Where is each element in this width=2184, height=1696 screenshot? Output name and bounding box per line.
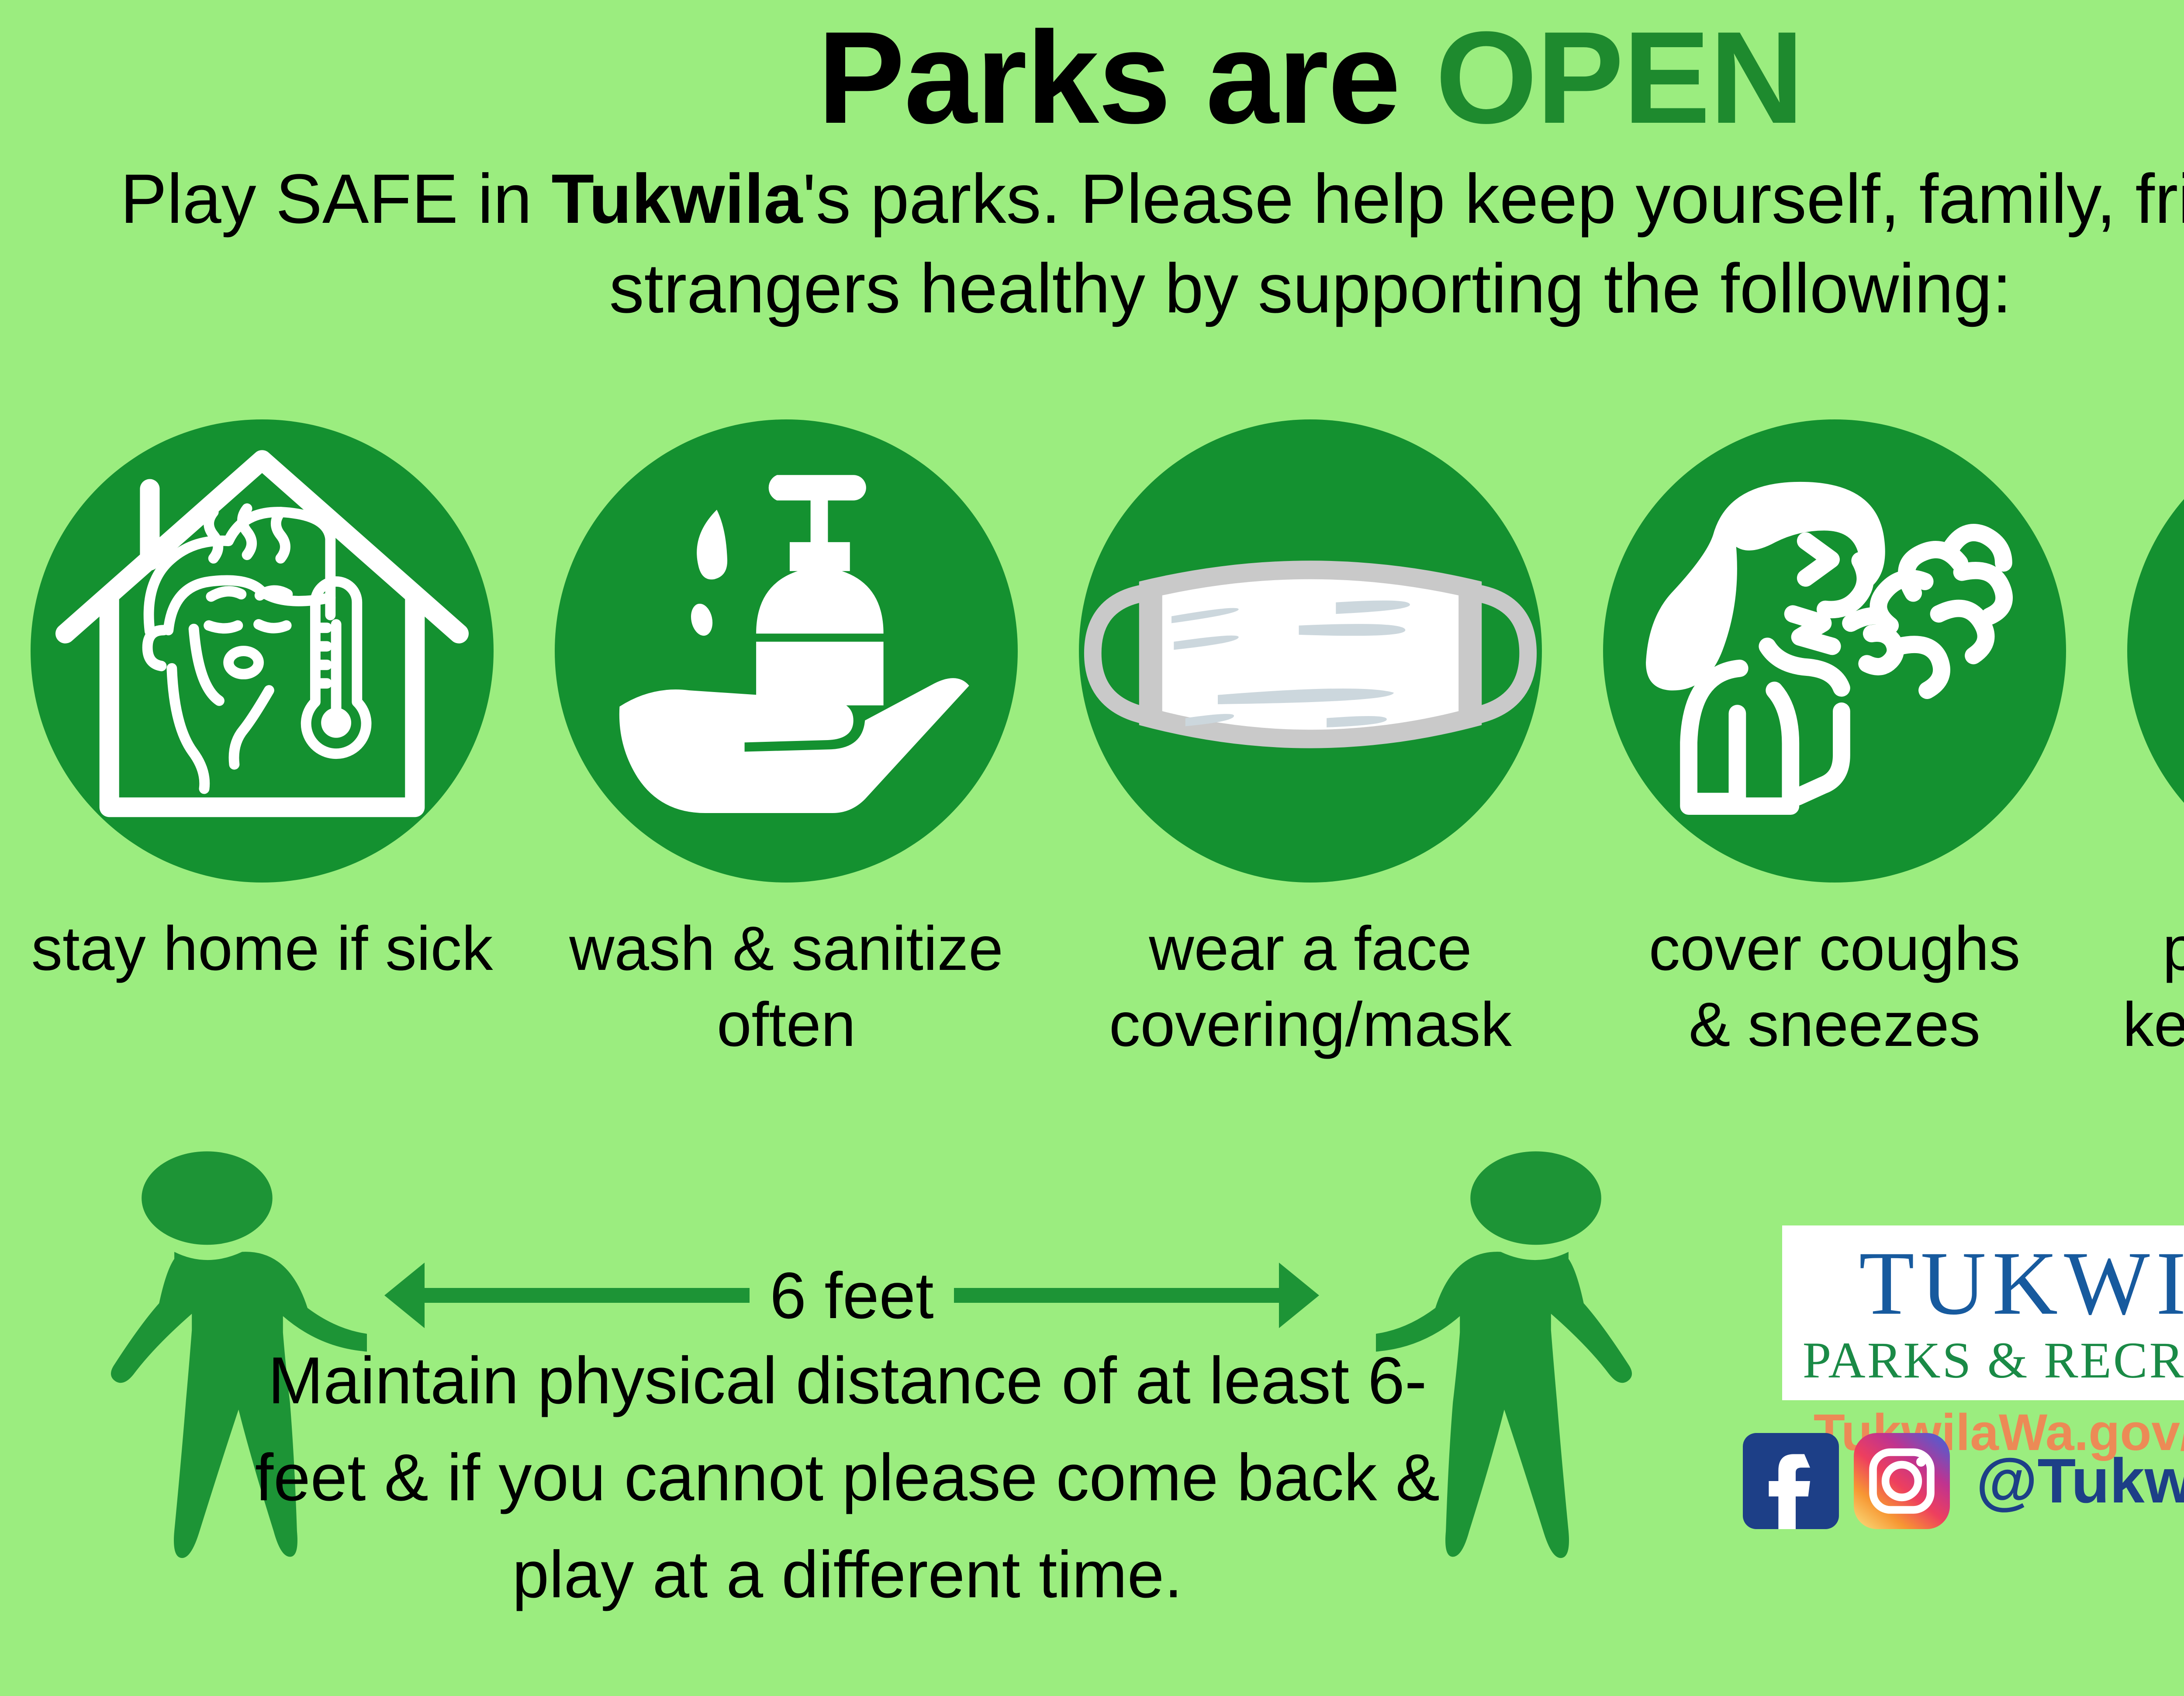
caption-face-mask: wear a facecovering/mask [1048, 911, 1572, 1063]
social-distancing-section: 6 feet Maintain physical distance of at … [0, 1136, 2184, 1696]
guideline-captions: stay home if sick wash & sanitizeoften w… [0, 911, 2184, 1063]
caption-wash-sanitize: wash & sanitizeoften [524, 911, 1048, 1063]
six-feet-arrow: 6 feet [384, 1254, 1319, 1337]
distancing-body-text: Maintain physical distance of at least 6… [245, 1333, 1450, 1623]
subtitle-after: 's parks. Please help keep yourself, fam… [609, 159, 2184, 327]
guideline-item-pick-up-litter [2097, 419, 2184, 909]
social-media-row: @TukwilaParks [1743, 1433, 2184, 1529]
sick-person-at-home-icon [31, 419, 494, 883]
caption-stay-home: stay home if sick [0, 911, 524, 1063]
social-handle-text: @TukwilaParks [1976, 1450, 2184, 1513]
page-title: Parks are OPEN [0, 0, 2184, 146]
subtitle-before: Play SAFE in [120, 159, 551, 238]
coughing-person-icon [1603, 419, 2066, 883]
guideline-item-face-mask [1048, 419, 1572, 909]
guideline-item-wash-sanitize [524, 419, 1048, 909]
caption-pick-up-litter: pick up litter &keep parks clean [2097, 911, 2184, 1063]
six-feet-label: 6 feet [750, 1263, 954, 1328]
caption-cover-coughs: cover coughs& sneezes [1572, 911, 2097, 1063]
face-mask-icon [1079, 419, 1542, 883]
guideline-item-stay-home [0, 419, 524, 909]
facebook-icon[interactable] [1743, 1433, 1839, 1529]
logo-tukwila-text: TUKWILA [1782, 1237, 2184, 1329]
guideline-item-cover-coughs [1572, 419, 2097, 909]
instagram-icon[interactable] [1854, 1433, 1950, 1529]
litter-disposal-icon [2127, 419, 2184, 883]
logo-white-box: TUKWILA PARKS & RECREATION [1782, 1225, 2184, 1400]
hand-sanitizer-icon [555, 419, 1018, 883]
guidelines-icon-row [0, 419, 2184, 909]
subtitle-city-name: Tukwila [551, 159, 802, 238]
title-green-part: OPEN [1435, 4, 1803, 151]
logo-parks-rec-text: PARKS & RECREATION [1782, 1332, 2184, 1389]
title-black-part: Parks are [818, 4, 1436, 151]
subtitle: Play SAFE in Tukwila's parks. Please hel… [109, 154, 2184, 333]
tukwila-parks-logo: TUKWILA PARKS & RECREATION TukwilaWa.gov… [1782, 1225, 2184, 1461]
